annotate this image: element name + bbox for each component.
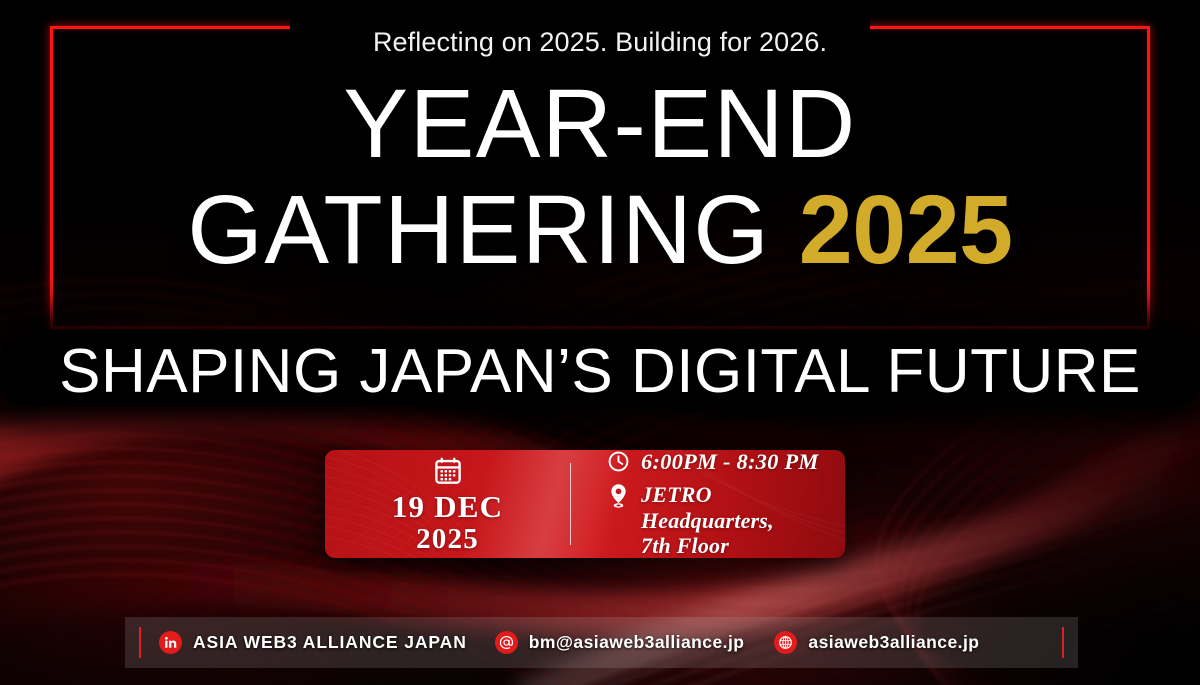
event-venue-row: JETRO Headquarters, 7th Floor (607, 482, 845, 558)
footer-divider-left (139, 627, 141, 658)
calendar-icon (433, 456, 463, 486)
event-venue-value: JETRO Headquarters, 7th Floor (641, 482, 774, 558)
globe-icon[interactable] (774, 631, 797, 654)
event-details-box: 19 DEC 2025 6:00PM - 8:30 PM (325, 450, 845, 558)
footer-linkedin[interactable]: ASIA WEB3 ALLIANCE JAPAN (159, 631, 467, 654)
event-time-row: 6:00PM - 8:30 PM (607, 450, 845, 475)
linkedin-icon[interactable] (159, 631, 182, 654)
clock-icon (607, 450, 630, 473)
footer-contact-bar: ASIA WEB3 ALLIANCE JAPAN bm@asiaweb3alli… (125, 617, 1078, 668)
event-time-venue-section: 6:00PM - 8:30 PM JETRO Headquarters, 7th… (571, 450, 845, 558)
footer-email-label: bm@asiaweb3alliance.jp (529, 632, 745, 653)
at-sign-icon[interactable] (495, 631, 518, 654)
title-word-gathering: GATHERING (187, 175, 798, 284)
event-date-day-month: 19 DEC (392, 491, 503, 523)
location-pin-icon (607, 482, 630, 509)
footer-website-label: asiaweb3alliance.jp (808, 632, 979, 653)
footer-linkedin-label: ASIA WEB3 ALLIANCE JAPAN (193, 632, 467, 653)
title-year-2025: 2025 (799, 175, 1013, 284)
footer-email[interactable]: bm@asiaweb3alliance.jp (495, 631, 745, 654)
title-block: YEAR-END GATHERING 2025 (0, 76, 1200, 278)
event-date-section: 19 DEC 2025 (325, 450, 570, 558)
subtitle: SHAPING JAPAN’S DIGITAL FUTURE (0, 336, 1200, 407)
footer-divider-right (1062, 627, 1064, 658)
footer-website[interactable]: asiaweb3alliance.jp (774, 631, 979, 654)
event-poster: Reflecting on 2025. Building for 2026. Y… (0, 0, 1200, 685)
title-line-2: GATHERING 2025 (0, 182, 1200, 278)
event-date-year: 2025 (416, 524, 479, 554)
tagline: Reflecting on 2025. Building for 2026. (0, 27, 1200, 58)
title-line-1: YEAR-END (0, 76, 1200, 172)
event-time-value: 6:00PM - 8:30 PM (641, 450, 819, 475)
